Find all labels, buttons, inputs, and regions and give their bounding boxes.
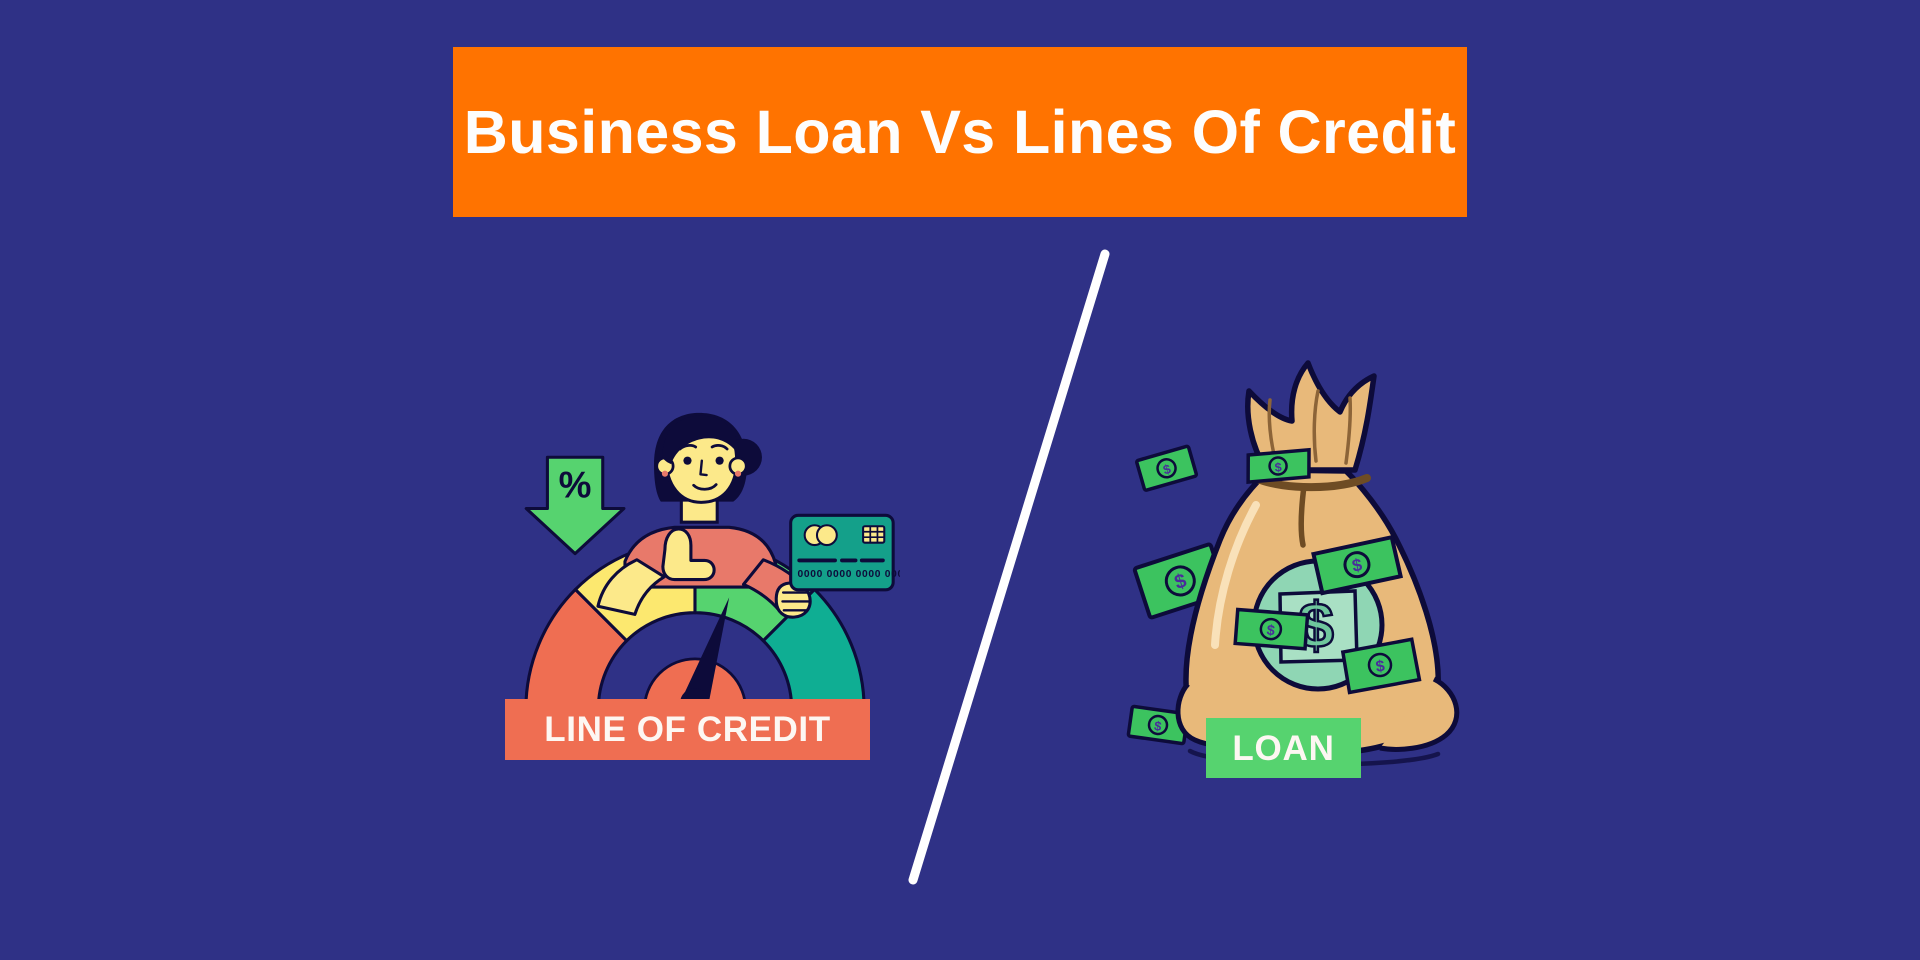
- page-title: Business Loan Vs Lines Of Credit: [464, 102, 1456, 163]
- dollar-bill-icon: $: [1246, 450, 1311, 482]
- card-logo-circle-right: [817, 525, 837, 545]
- woman-eye-left: [683, 457, 691, 465]
- woman-eye-right: [716, 457, 724, 465]
- card-chip-icon: [863, 526, 884, 542]
- svg-text:%: %: [559, 465, 592, 506]
- svg-text:$: $: [1274, 460, 1282, 474]
- woman-avatar: [598, 413, 810, 617]
- line-of-credit-label: LINE OF CREDIT: [505, 699, 870, 760]
- diagonal-separator: [905, 248, 1115, 886]
- percent-down-arrow-icon: %: [526, 457, 624, 553]
- dollar-bill-icon: $: [1136, 446, 1196, 491]
- woman-earring-right: [735, 471, 741, 477]
- card-number: 0000 0000 0000 0000: [798, 569, 901, 580]
- credit-card-icon: 0000 0000 0000 0000: [791, 515, 900, 589]
- poster-canvas: Business Loan Vs Lines Of Credit %: [0, 0, 1920, 960]
- money-bag-tie-tail: [1301, 486, 1304, 545]
- woman-earring-left: [662, 471, 668, 477]
- svg-text:$: $: [1266, 623, 1276, 640]
- title-banner: Business Loan Vs Lines Of Credit: [453, 47, 1467, 217]
- loan-label: LOAN: [1206, 718, 1361, 778]
- dollar-bill-icon: $: [1234, 608, 1308, 651]
